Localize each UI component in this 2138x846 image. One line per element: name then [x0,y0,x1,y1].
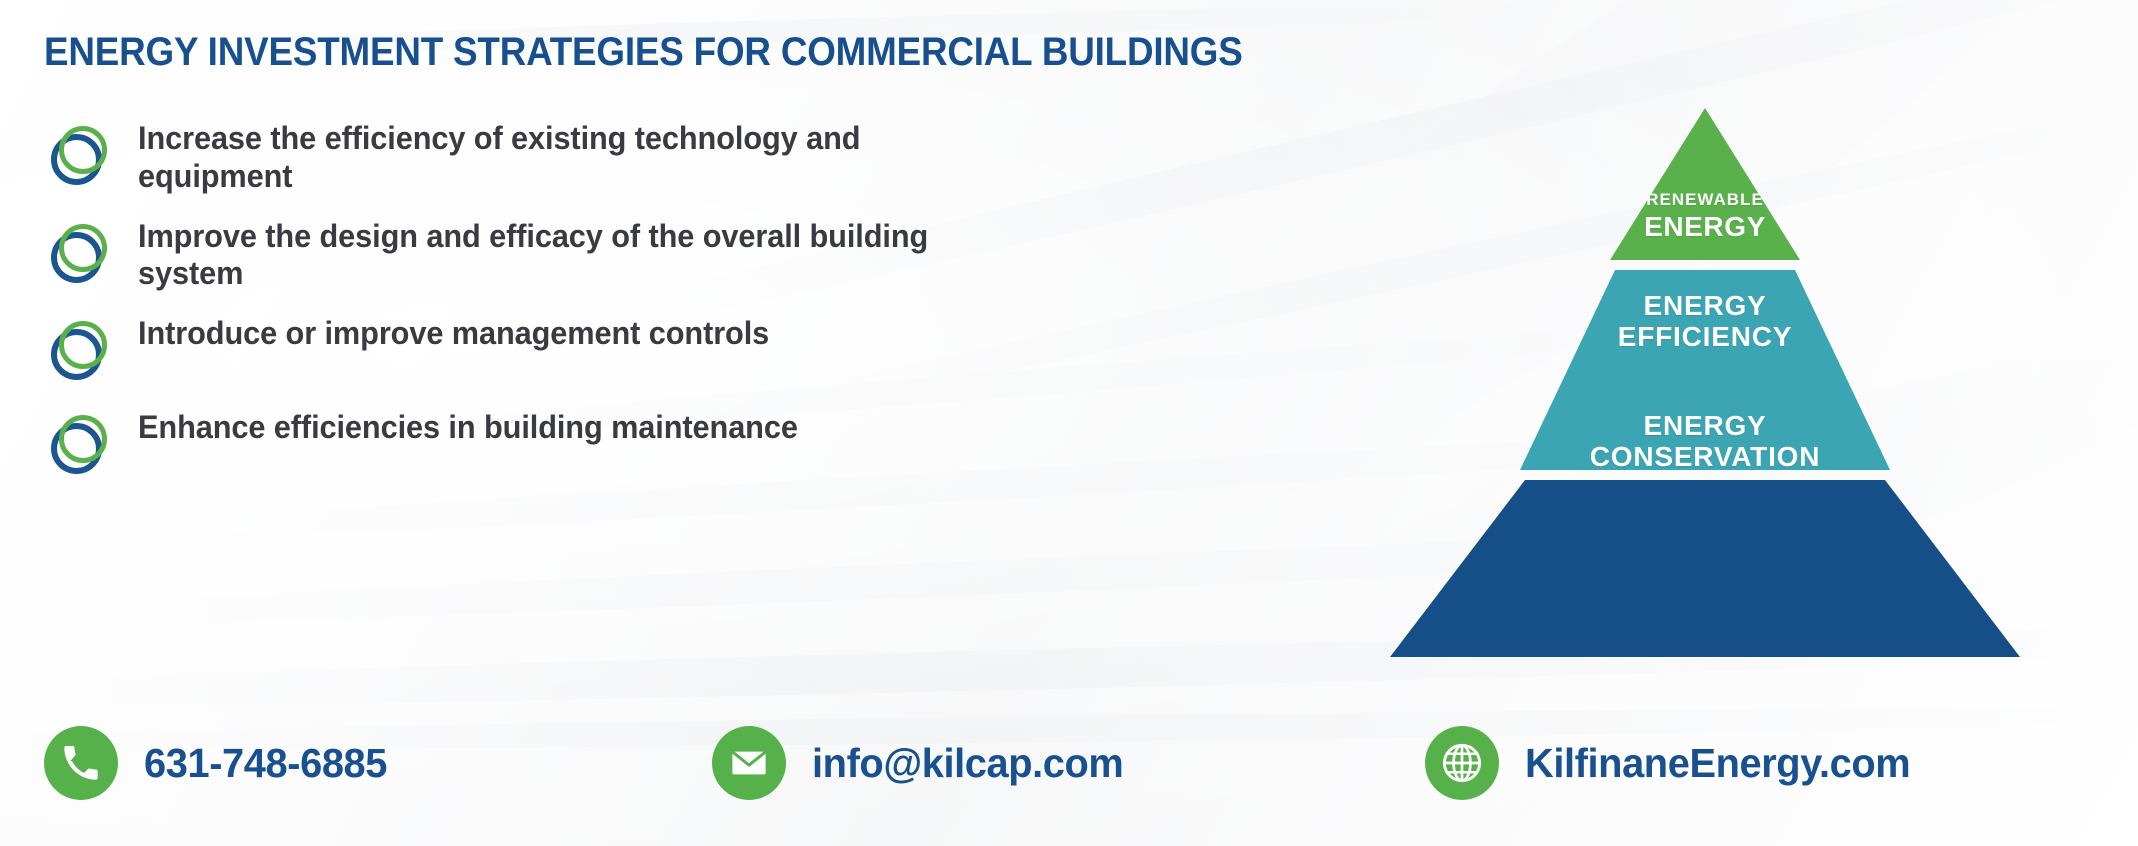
contact-phone[interactable]: 631-748-6885 [44,726,395,800]
globe-icon [1425,726,1499,800]
list-item-label: Increase the efficiency of existing tech… [138,118,975,196]
pyramid-tier-conservation [1390,480,2020,657]
pyramid-label-efficiency: ENERGY EFFICIENCY [1370,290,2040,353]
ring-icon [50,319,114,383]
list-item-label: Enhance efficiencies in building mainten… [138,407,798,447]
list-item: Introduce or improve management controls [50,313,1010,387]
list-item: Improve the design and efficacy of the o… [50,216,1010,294]
strategy-list: Increase the efficiency of existing tech… [50,118,1010,501]
ring-icon [50,413,114,477]
pyramid-label-renewable: RENEWABLE ENERGY [1370,190,2040,242]
energy-pyramid-diagram: RENEWABLE ENERGY ENERGY EFFICIENCY ENERG… [1370,95,2040,670]
email-address: info@kilcap.com [812,740,1123,787]
list-item-label: Introduce or improve management controls [138,313,769,353]
list-item: Increase the efficiency of existing tech… [50,118,1010,196]
mail-icon [712,726,786,800]
contact-bar: 631-748-6885 info@kilcap.com [0,726,2138,836]
ring-icon [50,222,114,286]
pyramid-label-conservation: ENERGY CONSERVATION [1370,410,2040,473]
contact-email[interactable]: info@kilcap.com [712,726,1133,800]
list-item-label: Improve the design and efficacy of the o… [138,216,975,294]
page-title: ENERGY INVESTMENT STRATEGIES FOR COMMERC… [44,30,1243,75]
contact-website[interactable]: KilfinaneEnergy.com [1425,726,1922,800]
phone-icon [44,726,118,800]
infographic-canvas: ENERGY INVESTMENT STRATEGIES FOR COMMERC… [0,0,2138,846]
website-url: KilfinaneEnergy.com [1525,740,1910,787]
list-item: Enhance efficiencies in building mainten… [50,407,1010,481]
phone-number: 631-748-6885 [144,740,387,787]
ring-icon [50,124,114,188]
